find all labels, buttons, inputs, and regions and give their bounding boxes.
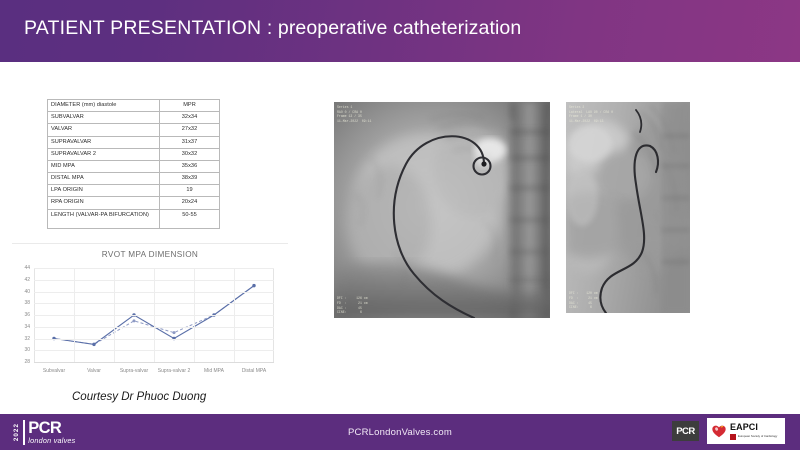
pcr-badge: PCR xyxy=(672,421,699,441)
chart-vertical-gridline xyxy=(154,268,155,362)
dimension-table: DIAMETER (mm) diastole MPR SUBVALVAR 32x… xyxy=(47,99,220,229)
chart-data-point xyxy=(133,319,136,322)
table-row: MID MPA 35x36 xyxy=(48,160,220,172)
chart-vertical-gridline xyxy=(234,268,235,362)
chart-x-tick-label: Supra-valvar xyxy=(120,368,148,374)
logo-pcr-text: PCR xyxy=(28,421,75,437)
table-row: DIAMETER (mm) diastole MPR xyxy=(48,100,220,112)
chart-y-tick-label: 34 xyxy=(24,324,30,330)
table-row: LENGTH (VALVAR-PA BIFURCATION) 50-55 xyxy=(48,209,220,228)
table-cell-value: 20x24 xyxy=(160,197,220,209)
esc-logo-icon xyxy=(730,434,736,440)
table-row: RPA ORIGIN 20x24 xyxy=(48,197,220,209)
table-row: SUPRAVALVAR 2 30x32 xyxy=(48,148,220,160)
slide-header-banner: PATIENT PRESENTATION : preoperative cath… xyxy=(0,0,800,62)
page-title-separator: : xyxy=(261,17,278,39)
angiogram-image-ap: Series 1 RAO 0 / CRA 0 Frame 13 / 35 11-… xyxy=(334,102,550,318)
chart-y-tick-label: 40 xyxy=(24,289,30,295)
eapci-society-label: European Society of Cardiology xyxy=(738,435,777,438)
table-cell-label: RPA ORIGIN xyxy=(48,197,160,209)
table-row: SUPRAVALVAR 31x37 xyxy=(48,136,220,148)
slide-canvas: PATIENT PRESENTATION : preoperative cath… xyxy=(0,0,800,450)
chart-title: RVOT MPA DIMENSION xyxy=(12,250,288,259)
table-cell-value: 27x32 xyxy=(160,124,220,136)
logo-london-valves-text: london valves xyxy=(28,437,75,444)
pcr-london-valves-logo: 2022 PCR london valves xyxy=(14,419,76,446)
dimension-table-container: DIAMETER (mm) diastole MPR SUBVALVAR 32x… xyxy=(47,99,219,229)
angiogram-lateral-overlay-bottom: DFI : 120 cm FD : 21 cm DAC : 45 CINE: 6 xyxy=(569,291,598,310)
table-row: SUBVALVAR 32x34 xyxy=(48,112,220,124)
chart-x-tick-label: Supra-valvar 2 xyxy=(158,368,191,374)
chart-data-point xyxy=(252,284,255,287)
eapci-name: EAPCI xyxy=(730,423,777,432)
table-cell-value: 32x34 xyxy=(160,112,220,124)
chart-plot-area: 283032343638404244SubvalvarValvarSupra-v… xyxy=(34,268,274,362)
table-cell-label: LPA ORIGIN xyxy=(48,185,160,197)
angiogram-image-lateral: Series 2 Lateral LAO 90 / CRA 0 Frame 1 … xyxy=(566,102,690,313)
table-cell-label: LENGTH (VALVAR-PA BIFURCATION) xyxy=(48,209,160,228)
angiogram-lateral-graphic xyxy=(566,102,690,313)
chart-y-tick-label: 42 xyxy=(24,277,30,283)
table-cell-label: SUPRAVALVAR xyxy=(48,136,160,148)
rvot-mpa-chart: RVOT MPA DIMENSION 283032343638404244Sub… xyxy=(12,243,288,385)
chart-gridline xyxy=(34,362,274,363)
table-cell-value: 19 xyxy=(160,185,220,197)
chart-data-point xyxy=(92,343,95,346)
table-cell-value: 50-55 xyxy=(160,209,220,228)
table-row: LPA ORIGIN 19 xyxy=(48,185,220,197)
table-cell-label: SUPRAVALVAR 2 xyxy=(48,148,160,160)
table-cell-value: 31x37 xyxy=(160,136,220,148)
chart-x-tick-label: Mid MPA xyxy=(204,368,224,374)
table-cell-label: VALVAR xyxy=(48,124,160,136)
eapci-society-row: European Society of Cardiology xyxy=(730,434,777,440)
angiogram-ap-overlay-bottom: DFI : 126 cm FD : 21 cm DAC : 45 CINE: 6 xyxy=(337,296,368,315)
table-cell-label: DISTAL MPA xyxy=(48,173,160,185)
chart-x-tick-label: Valvar xyxy=(87,368,101,374)
table-row: DISTAL MPA 38x39 xyxy=(48,173,220,185)
chart-vertical-gridline xyxy=(114,268,115,362)
table-cell-value: 35x36 xyxy=(160,160,220,172)
logo-wordmark: PCR london valves xyxy=(28,421,75,445)
chart-x-tick-label: Subvalvar xyxy=(43,368,65,374)
angiogram-ap-graphic xyxy=(334,102,550,318)
chart-y-tick-label: 28 xyxy=(24,359,30,365)
chart-data-point xyxy=(173,331,176,334)
logo-divider xyxy=(23,420,25,445)
page-title-main: PATIENT PRESENTATION xyxy=(24,17,261,39)
table-cell-value: 30x32 xyxy=(160,148,220,160)
chart-y-tick-label: 44 xyxy=(24,265,30,271)
chart-y-tick-label: 38 xyxy=(24,300,30,306)
pcr-badge-text: PCR xyxy=(676,426,695,437)
eapci-badge-text-block: EAPCI European Society of Cardiology xyxy=(730,423,777,440)
chart-y-tick-label: 32 xyxy=(24,336,30,342)
chart-y-tick-label: 36 xyxy=(24,312,30,318)
table-cell-value: 38x39 xyxy=(160,173,220,185)
table-row: VALVAR 27x32 xyxy=(48,124,220,136)
chart-x-tick-label: Distal MPA xyxy=(242,368,266,374)
page-title: PATIENT PRESENTATION : preoperative cath… xyxy=(24,17,521,40)
chart-vertical-gridline xyxy=(74,268,75,362)
table-header-mpr: MPR xyxy=(160,100,220,112)
eapci-badge: EAPCI European Society of Cardiology xyxy=(707,418,785,444)
courtesy-credit: Courtesy Dr Phuoc Duong xyxy=(72,391,206,403)
table-cell-label: SUBVALVAR xyxy=(48,112,160,124)
chart-vertical-gridline xyxy=(194,268,195,362)
heart-icon xyxy=(711,423,727,439)
chart-y-tick-label: 30 xyxy=(24,347,30,353)
angiogram-lateral-overlay-top: Series 2 Lateral LAO 90 / CRA 0 Frame 1 … xyxy=(569,105,613,124)
table-cell-label: MID MPA xyxy=(48,160,160,172)
table-header-diameter: DIAMETER (mm) diastole xyxy=(48,100,160,112)
page-title-subject: preoperative catheterization xyxy=(278,17,521,39)
angiogram-ap-overlay-top: Series 1 RAO 0 / CRA 0 Frame 13 / 35 11-… xyxy=(337,105,371,124)
logo-year: 2022 xyxy=(14,423,20,441)
